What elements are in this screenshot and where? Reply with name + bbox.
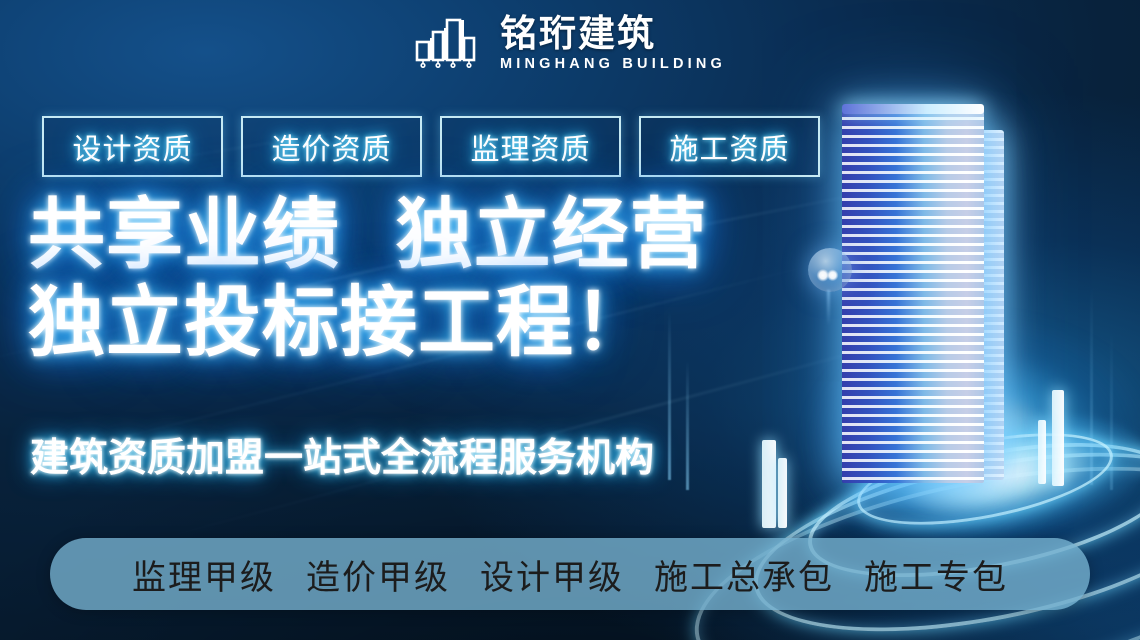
headline-line-2: 独立投标接工程！ <box>28 284 708 364</box>
badge-design-qualification[interactable]: 设计资质 <box>42 116 223 177</box>
pill-item-design[interactable]: 设计甲级 <box>480 550 624 599</box>
badge-label: 造价资质 <box>271 126 391 168</box>
small-building-icon <box>1038 420 1046 484</box>
pill-item-specialty-contracting[interactable]: 施工专包 <box>864 550 1008 599</box>
small-building-icon <box>762 440 776 528</box>
background-tower-bar <box>1110 330 1113 490</box>
glow-sphere-trail <box>827 290 830 326</box>
badge-cost-qualification[interactable]: 造价资质 <box>241 116 422 177</box>
promo-banner: 铭珩建筑 MINGHANG BUILDING 设计资质 造价资质 监理资质 施工… <box>0 0 1140 640</box>
pill-item-supervision[interactable]: 监理甲级 <box>132 550 276 599</box>
headline-subtitle: 建筑资质加盟一站式全流程服务机构 <box>30 427 654 483</box>
skyscraper-roof <box>842 104 984 114</box>
headline-line-1: 共享业绩 独立经营 <box>28 196 708 276</box>
base-glow <box>800 310 1140 570</box>
brand-name-cn: 铭珩建筑 <box>500 15 726 52</box>
background-tower-bar <box>686 360 689 490</box>
service-pill-bar: 监理甲级 造价甲级 设计甲级 施工总承包 施工专包 <box>50 538 1090 610</box>
building-skyline-icon <box>414 14 486 73</box>
skyscraper-icon <box>842 108 984 483</box>
badge-label: 施工资质 <box>669 126 789 168</box>
glow-rings-icon <box>850 416 1120 542</box>
badge-label: 监理资质 <box>470 126 590 168</box>
skyscraper-secondary-icon <box>922 130 1004 480</box>
background-tower-bar <box>1090 285 1093 485</box>
pill-item-general-contracting[interactable]: 施工总承包 <box>654 550 834 599</box>
headline-block: 共享业绩 独立经营 独立投标接工程！ <box>28 196 708 364</box>
small-building-icon <box>1052 390 1064 486</box>
badge-label: 设计资质 <box>72 126 192 168</box>
glow-sphere-icon <box>808 248 852 292</box>
badge-supervision-qualification[interactable]: 监理资质 <box>440 116 621 177</box>
brand-logo: 铭珩建筑 MINGHANG BUILDING <box>0 14 1140 73</box>
small-building-icon <box>778 458 787 528</box>
badge-construction-qualification[interactable]: 施工资质 <box>639 116 820 177</box>
pill-item-cost[interactable]: 造价甲级 <box>306 550 450 599</box>
qualification-badges: 设计资质 造价资质 监理资质 施工资质 <box>42 116 820 177</box>
brand-name-en: MINGHANG BUILDING <box>500 57 726 72</box>
